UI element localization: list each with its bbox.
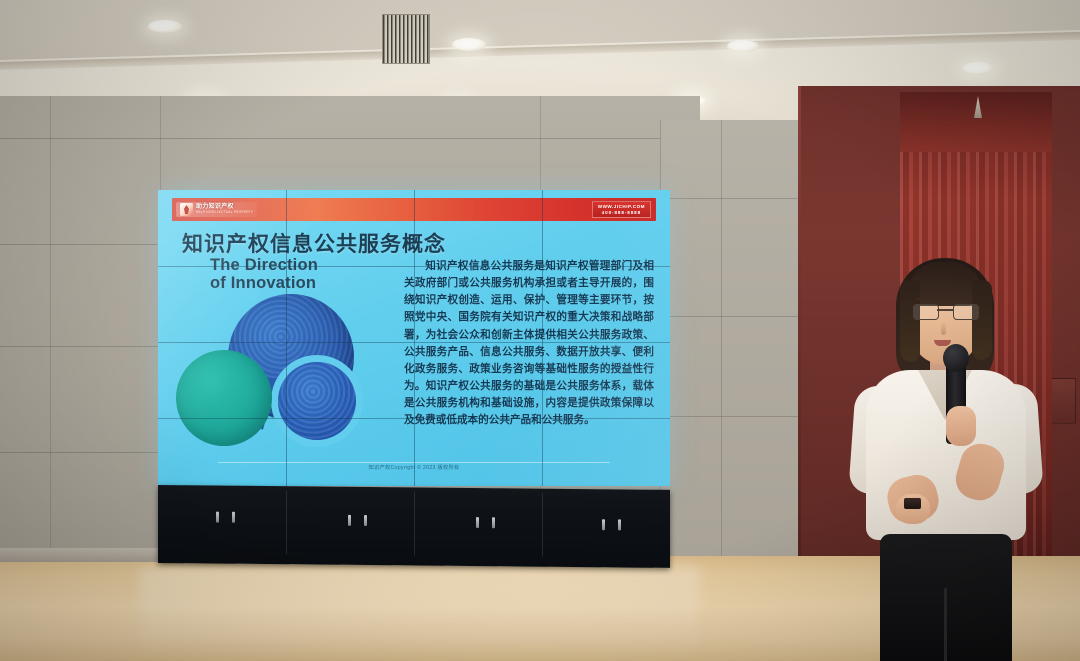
gray-wall-panel-right xyxy=(660,120,801,566)
panel-seam-vertical xyxy=(286,190,287,486)
brand-logo: 助力知识产权 HELP INTELLECTUAL PROPERTY xyxy=(176,202,257,217)
slide-decorative-graphic xyxy=(176,294,376,454)
brand-logo-icon xyxy=(180,203,193,216)
panel-seam-horizontal xyxy=(158,418,670,419)
wall-corner-edge xyxy=(798,86,801,581)
presentation-room-photo: 助力知识产权 HELP INTELLECTUAL PROPERTY WWW.JI… xyxy=(0,0,1080,661)
brand-phone: 400-888-8888 xyxy=(602,210,641,215)
lcd-video-wall[interactable]: 助力知识产权 HELP INTELLECTUAL PROPERTY WWW.JI… xyxy=(158,190,670,486)
trouser-seam xyxy=(944,588,947,661)
floor-reflection xyxy=(140,566,700,661)
ceiling-downlight xyxy=(962,62,994,75)
teal-circle-shape xyxy=(176,350,272,446)
floor-skirting xyxy=(0,548,160,562)
microphone-head-icon xyxy=(943,344,969,372)
presenter xyxy=(852,258,1040,661)
glasses-icon xyxy=(913,304,977,318)
banner-contact-block: WWW.JICHIP.COM 400-888-8888 xyxy=(592,201,651,218)
ceiling-downlight xyxy=(452,38,486,51)
presentation-clicker-icon xyxy=(904,498,921,509)
ceiling-downlight xyxy=(148,20,182,33)
panel-seam-horizontal xyxy=(158,266,670,267)
nose xyxy=(941,322,946,335)
curtain-valance xyxy=(900,92,1052,152)
dark-cabinet-row[interactable] xyxy=(158,485,670,568)
hair-left xyxy=(900,280,920,362)
ceiling-downlight xyxy=(727,40,759,52)
panel-seam-horizontal xyxy=(158,342,670,343)
slide-body-text: 知识产权信息公共服务是知识产权管理部门及相关政府部门或公共服务机构承担或者主导开… xyxy=(404,258,654,430)
panel-seam-vertical xyxy=(542,190,543,486)
panel-seam-vertical xyxy=(414,190,415,486)
slide-subtitle-line2: of Innovation xyxy=(210,274,318,292)
hand-right xyxy=(946,406,976,446)
slide-title: 知识产权信息公共服务概念 xyxy=(182,228,446,258)
wall-access-plate xyxy=(1048,378,1076,424)
slide-subtitle: The Direction of Innovation xyxy=(210,256,318,293)
brand-name-en: HELP INTELLECTUAL PROPERTY xyxy=(196,211,253,214)
blue-leaf-shape xyxy=(278,362,356,440)
hair-right xyxy=(972,280,992,360)
ceiling-air-vent xyxy=(382,14,430,64)
